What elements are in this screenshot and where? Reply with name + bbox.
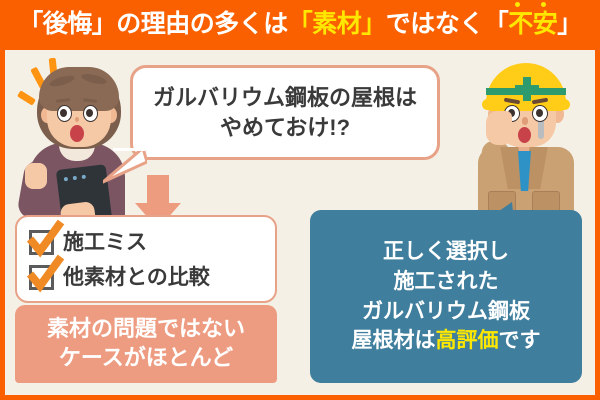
header-band: 「後悔」の理由の多くは「素材」ではなく「不安」: [0, 0, 600, 48]
worker-nose: [522, 117, 528, 125]
worker-hand-on-cheek: [486, 111, 512, 145]
checklist-item-label: 施工ミス: [63, 232, 147, 253]
woman-pupil-left: [60, 109, 67, 117]
salmon-banner-line-1: 素材の問題ではない: [47, 315, 245, 344]
checklist-item[interactable]: 施工ミス: [29, 225, 275, 260]
infographic-root: 「後悔」の理由の多くは「素材」ではなく「不安」: [0, 0, 600, 400]
checkbox-icon[interactable]: [29, 265, 54, 290]
salmon-conclusion-banner: 素材の問題ではない ケースがほとんど: [15, 305, 277, 383]
surprise-mark-icon: [17, 90, 36, 105]
teal-panel-line-1: 正しく選択し: [383, 237, 509, 267]
emphasis-dot-2: [541, 2, 546, 7]
teal-line4-highlight: 高評価: [436, 329, 499, 352]
tablet-dot: [64, 177, 68, 181]
speech-bubble-line-1: ガルバリウム鋼板の屋根は: [153, 83, 417, 112]
tablet-dot: [82, 175, 86, 179]
checkmark-icon: [27, 221, 63, 255]
title-part-2-highlight: 「素材」: [288, 10, 386, 38]
emphasis-dot-1: [515, 2, 520, 7]
checklist-card: 施工ミス 他素材との比較: [15, 215, 277, 303]
speech-bubble-line-2: やめておけ!?: [220, 113, 350, 142]
teal-line4-post: です: [499, 329, 541, 352]
page-title: 「後悔」の理由の多くは「素材」ではなく「不安」: [18, 12, 582, 37]
title-emphasis-text: 不安: [508, 10, 557, 38]
checklist-item[interactable]: 他素材との比較: [29, 260, 275, 295]
arrow-shaft: [147, 175, 169, 205]
teal-line4-pre: 屋根材は: [352, 329, 436, 352]
salmon-banner-line-2: ケースがほとんど: [59, 344, 233, 373]
teal-panel-line-2: 施工された: [394, 267, 499, 297]
woman-hand-left: [25, 163, 47, 189]
woman-pupil-right: [86, 109, 93, 117]
green-cross-icon: [515, 85, 539, 93]
teal-panel-line-4: 屋根材は高評価です: [352, 326, 541, 356]
worker-mouth-open: [518, 127, 531, 143]
character-woman: [15, 55, 145, 223]
woman-mouth-open: [70, 125, 84, 142]
title-part-3: ではなく: [386, 10, 484, 38]
checkmark-icon: [27, 256, 63, 290]
tablet-dot: [73, 176, 77, 180]
teal-panel-line-3: ガルバリウム鋼板: [362, 297, 530, 327]
title-part-4: 「: [484, 10, 509, 38]
content-canvas: ガルバリウム鋼板の屋根は やめておけ!? 施工ミス: [5, 50, 595, 395]
worker-pupil-right: [536, 109, 543, 117]
checklist-item-label: 他素材との比較: [63, 267, 210, 288]
title-part-1: 「後悔」の理由の多くは: [18, 10, 288, 38]
checkbox-icon[interactable]: [29, 230, 54, 255]
woman-nose: [75, 117, 79, 122]
title-part-6: 」: [557, 10, 582, 38]
woman-hair-top: [39, 67, 119, 111]
speech-bubble: ガルバリウム鋼板の屋根は やめておけ!?: [130, 65, 440, 160]
title-part-5-emphasis: 不安: [508, 10, 557, 38]
teal-evaluation-panel: 正しく選択し 施工された ガルバリウム鋼板 屋根材は高評価です: [310, 210, 582, 383]
